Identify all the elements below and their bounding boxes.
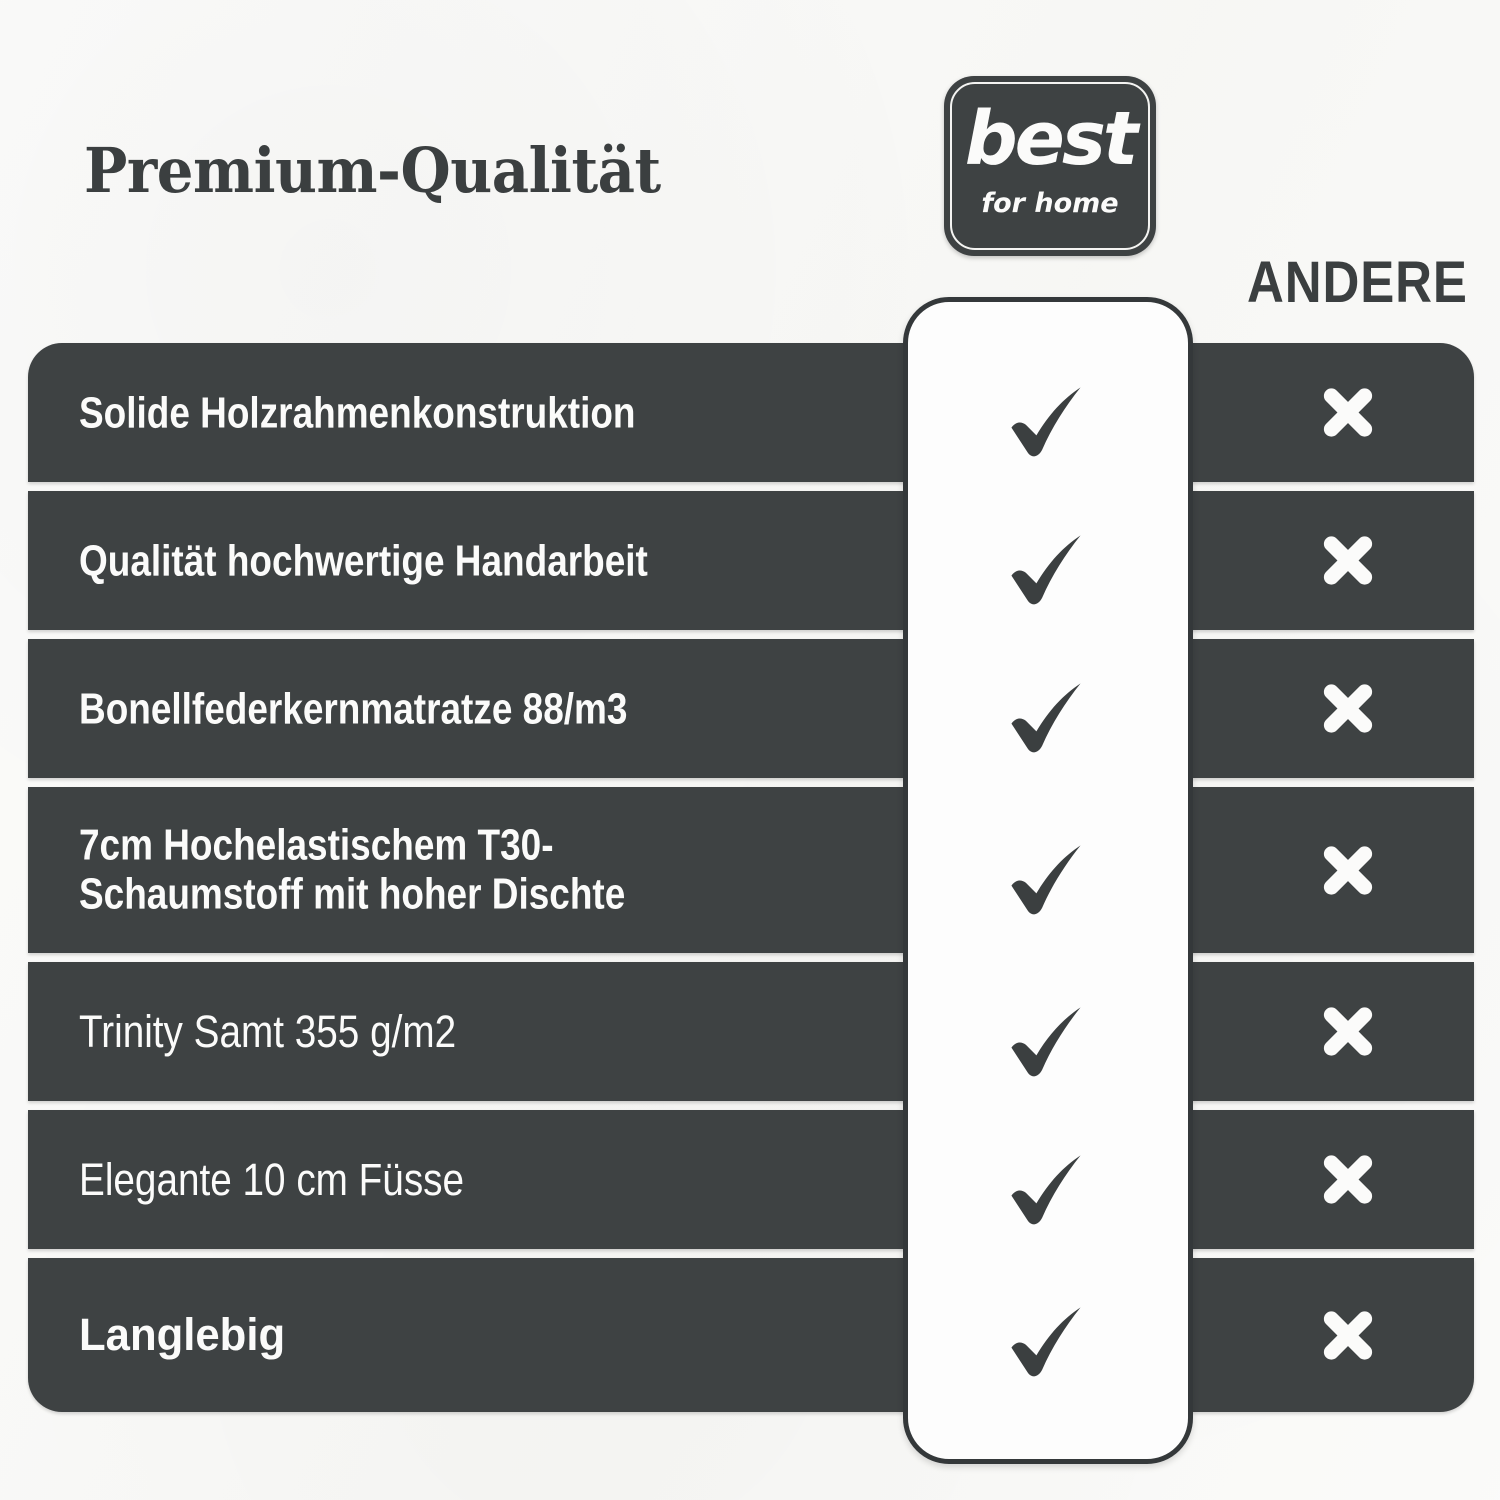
table-row: Qualität hochwertige Handarbeit — [28, 491, 1474, 630]
brand-logo: best for home — [944, 76, 1156, 256]
feature-label: Bonellfederkernmatratze 88/m3 — [79, 684, 627, 733]
feature-label: Elegante 10 cm Füsse — [79, 1154, 464, 1204]
feature-label: 7cm Hochelastischem T30- Schaumstoff mit… — [79, 821, 625, 920]
cross-icon — [1318, 679, 1378, 739]
table-row: 7cm Hochelastischem T30- Schaumstoff mit… — [28, 787, 1474, 953]
cross-icon — [1318, 1150, 1378, 1210]
logo-brand-text: best — [944, 100, 1156, 178]
check-icon — [998, 992, 1094, 1088]
check-icon — [998, 830, 1094, 926]
table-row: Trinity Samt 355 g/m2 — [28, 962, 1474, 1101]
logo-tagline-text: for home — [944, 188, 1156, 219]
check-icon — [998, 668, 1094, 764]
table-row: Solide Holzrahmenkonstruktion — [28, 343, 1474, 482]
cross-icon — [1318, 1002, 1378, 1062]
comparison-infographic: Premium-Qualität best for home ANDERE So… — [0, 0, 1500, 1500]
check-icon — [998, 520, 1094, 616]
page-title: Premium-Qualität — [84, 134, 661, 207]
cross-icon — [1318, 531, 1378, 591]
cross-icon — [1318, 383, 1378, 443]
feature-label: Langlebig — [79, 1310, 285, 1360]
check-icon — [998, 372, 1094, 468]
cross-icon — [1318, 840, 1378, 900]
table-row: Elegante 10 cm Füsse — [28, 1110, 1474, 1249]
feature-label: Qualität hochwertige Handarbeit — [79, 536, 648, 585]
column-header-others: ANDERE — [1247, 249, 1468, 316]
feature-rows: Solide Holzrahmenkonstruktion Qualität h… — [28, 343, 1474, 1412]
feature-label: Trinity Samt 355 g/m2 — [79, 1006, 456, 1056]
table-row: Bonellfederkernmatratze 88/m3 — [28, 639, 1474, 778]
table-row: Langlebig — [28, 1258, 1474, 1412]
ours-column-panel — [903, 297, 1193, 1464]
cross-icon — [1318, 1305, 1378, 1365]
check-icon — [998, 1292, 1094, 1388]
check-icon — [998, 1140, 1094, 1236]
feature-label: Solide Holzrahmenkonstruktion — [79, 388, 636, 437]
